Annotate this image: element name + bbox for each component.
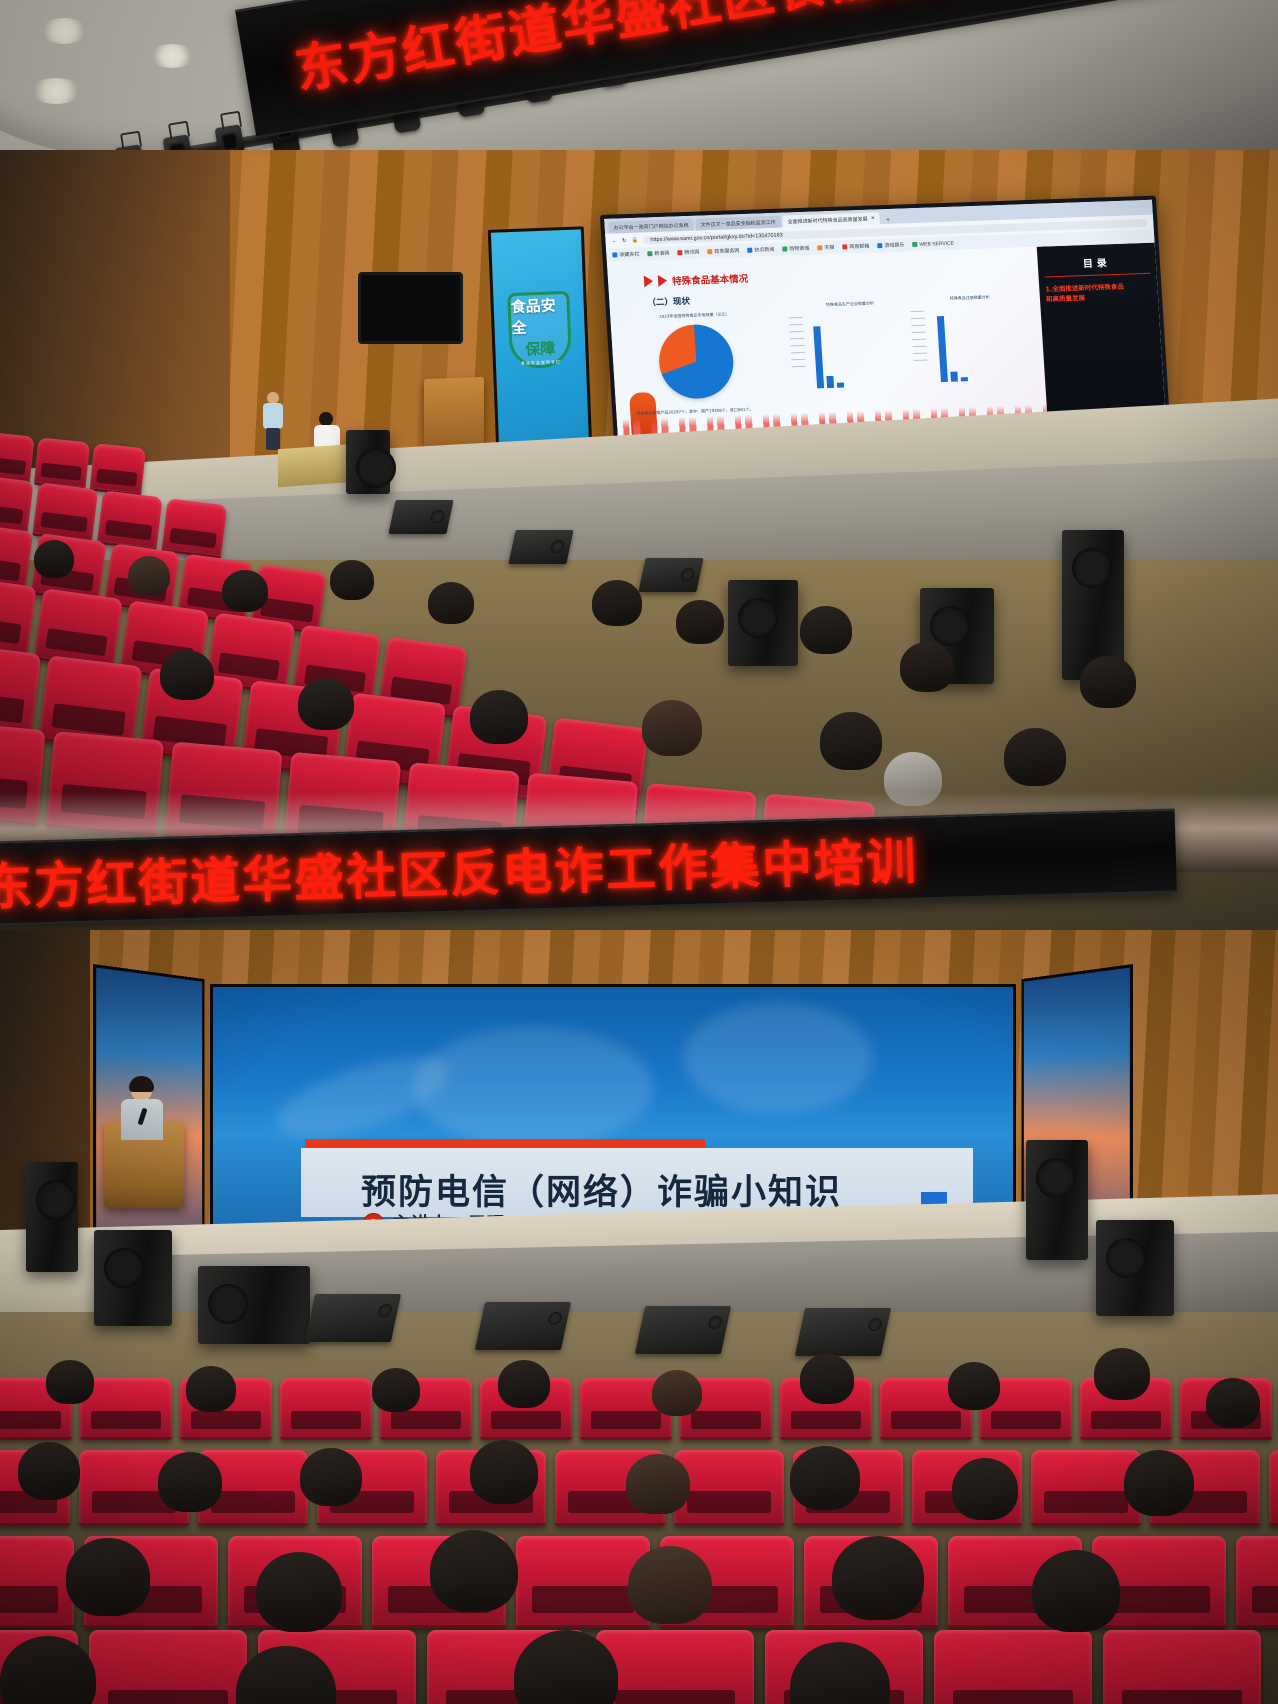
presenter-torso xyxy=(263,403,283,429)
background-imagery xyxy=(683,1003,873,1113)
ceiling-light xyxy=(30,78,82,104)
theater-seat xyxy=(1103,1630,1261,1704)
pa-speaker-stack xyxy=(26,1162,78,1272)
bookmark-item[interactable]: 新浪网 xyxy=(647,250,669,258)
badge-line-1: 食品安全 xyxy=(510,294,568,338)
theater-seat xyxy=(0,643,41,740)
theater-seat xyxy=(934,1630,1092,1704)
bookmark-label: 热点新闻 xyxy=(754,246,774,254)
speaker-hair xyxy=(129,1076,154,1092)
stage-monitor-wedge xyxy=(388,500,453,534)
bookmark-label: 天猫 xyxy=(824,244,834,251)
theater-seat xyxy=(46,731,164,836)
bar1-y-axis-ticks xyxy=(789,317,807,373)
stage-monitor-wedge xyxy=(635,1306,731,1354)
ceiling-light xyxy=(150,44,194,68)
police-officer-speaker xyxy=(118,1078,166,1140)
lock-icon: 🔒 xyxy=(631,237,638,243)
bookmark-item[interactable]: 天猫 xyxy=(817,244,834,252)
back-arrow-icon[interactable]: ← xyxy=(611,238,617,244)
bookmark-label: 新浪网 xyxy=(654,250,669,258)
presenter-legs xyxy=(266,428,280,450)
triangle-marker-icon xyxy=(658,275,668,287)
pa-speaker-stack xyxy=(1026,1140,1088,1260)
chart-caption-bar2: 特殊食品注册数量分析 xyxy=(910,293,1030,303)
badge-line-3: 食品安全宣传专栏 xyxy=(521,359,561,367)
theater-seat xyxy=(1269,1450,1278,1526)
bookmark-item[interactable]: 政务服务网 xyxy=(707,247,739,255)
theater-seat xyxy=(0,576,37,658)
theater-seat xyxy=(89,443,146,496)
bookmark-item[interactable]: 收藏夹栏 xyxy=(612,251,639,259)
wall-monitor xyxy=(358,272,463,344)
bookmark-item[interactable]: 热点新闻 xyxy=(747,246,774,254)
theater-seat xyxy=(0,431,35,484)
theater-seat xyxy=(596,1630,754,1704)
bar2-y-axis-ticks xyxy=(910,311,928,367)
pa-speaker-stack xyxy=(198,1266,310,1344)
pa-speaker-stack xyxy=(346,430,390,494)
theater-seat xyxy=(0,474,34,535)
triangle-marker-icon xyxy=(644,275,654,287)
bookmark-label: 网易邮箱 xyxy=(849,243,869,251)
slide-title: 预防电信（网络）诈骗小知识 xyxy=(361,1164,842,1215)
bar-chart-1 xyxy=(813,316,845,389)
badge-line-2: 保障 xyxy=(525,337,556,359)
stage-monitor-wedge xyxy=(508,530,573,564)
theater-seat xyxy=(280,1378,372,1440)
led-wall-main-panel: 预防电信（网络）诈骗小知识 主讲人：于珺 东方红派出所华盛警务室 xyxy=(210,984,1016,1228)
stage-monitor-wedge xyxy=(305,1294,401,1342)
bar-chart-2 xyxy=(936,309,968,382)
curved-led-wall: 预防电信（网络）诈骗小知识 主讲人：于珺 东方红派出所华盛警务室 xyxy=(92,972,1134,1240)
toc-divider xyxy=(1045,273,1151,278)
pa-speaker-stack xyxy=(94,1230,172,1326)
slide-section-title: 特殊食品基本情况 xyxy=(672,271,749,288)
slide-subsection: （二）现状 xyxy=(647,295,690,308)
slide-section-header: 特殊食品基本情况 xyxy=(644,271,749,289)
pie-chart xyxy=(657,323,736,399)
bookmark-item[interactable]: 购物商城 xyxy=(782,245,809,253)
bookmark-label: 腾讯网 xyxy=(684,249,699,257)
food-safety-training-photo: 东方红街道华盛社区食品安全工作集中培训 食品安全 保障 食品安全宣传专栏 办公平… xyxy=(0,0,1278,930)
theater-seat xyxy=(674,1450,784,1526)
tab-label: 文件正文－食品安全抽检监测工作 xyxy=(700,218,775,228)
close-icon[interactable]: ✕ xyxy=(870,215,875,221)
bookmark-label: 购物商城 xyxy=(789,245,809,253)
chart-caption-bar1: 特殊食品生产企业数量分析 xyxy=(790,299,910,309)
theater-seat xyxy=(0,721,46,826)
bookmark-item[interactable]: WEB SERVICE xyxy=(912,240,954,247)
ceiling-light xyxy=(40,18,88,44)
tab-label: 全面推进新时代特殊食品高质量发展 xyxy=(787,215,867,225)
bookmark-item[interactable]: 腾讯网 xyxy=(677,249,699,257)
stage-monitor-wedge xyxy=(638,558,703,592)
theater-seat xyxy=(165,741,283,846)
reload-icon[interactable]: ↻ xyxy=(622,238,627,244)
slide-accent-rule xyxy=(305,1139,705,1148)
anti-fraud-training-photo: 预防电信（网络）诈骗小知识 主讲人：于珺 东方红派出所华盛警务室 xyxy=(0,930,1278,1704)
bookmark-label: 游戏娱乐 xyxy=(884,241,904,249)
bookmark-label: WEB SERVICE xyxy=(919,240,954,247)
bookmark-item[interactable]: 游戏娱乐 xyxy=(877,241,904,249)
composite-photo-page: 东方红街道华盛社区食品安全工作集中培训 食品安全 保障 食品安全宣传专栏 办公平… xyxy=(0,0,1278,1704)
bookmark-label: 政务服务网 xyxy=(714,247,739,255)
bookmark-label: 收藏夹栏 xyxy=(619,251,639,259)
theater-seat xyxy=(0,1536,74,1628)
background-imagery xyxy=(268,1041,458,1154)
theater-seat xyxy=(89,1630,247,1704)
food-safety-shield-icon: 食品安全 保障 食品安全宣传专栏 xyxy=(507,291,572,369)
bookmark-item[interactable]: 网易邮箱 xyxy=(842,243,869,251)
stage-monitor-wedge xyxy=(795,1308,891,1356)
background-imagery xyxy=(413,1027,653,1147)
pa-speaker-stack xyxy=(728,580,798,666)
stage-monitor-wedge xyxy=(475,1302,571,1350)
toc-title: 目录 xyxy=(1043,253,1150,272)
pa-speaker-stack xyxy=(1096,1220,1174,1316)
theater-seat xyxy=(161,498,227,559)
theater-seat xyxy=(1236,1536,1278,1628)
seat-row xyxy=(0,1630,1272,1704)
standing-presenter xyxy=(262,392,284,450)
side-led-screen: 食品安全 保障 食品安全宣传专栏 xyxy=(488,226,592,452)
chart-caption-pie: 2023年全国特殊食品市场规模（亿元） xyxy=(636,311,752,321)
tab-label: 办公平台－政府门户网站办公系统 xyxy=(613,221,688,231)
